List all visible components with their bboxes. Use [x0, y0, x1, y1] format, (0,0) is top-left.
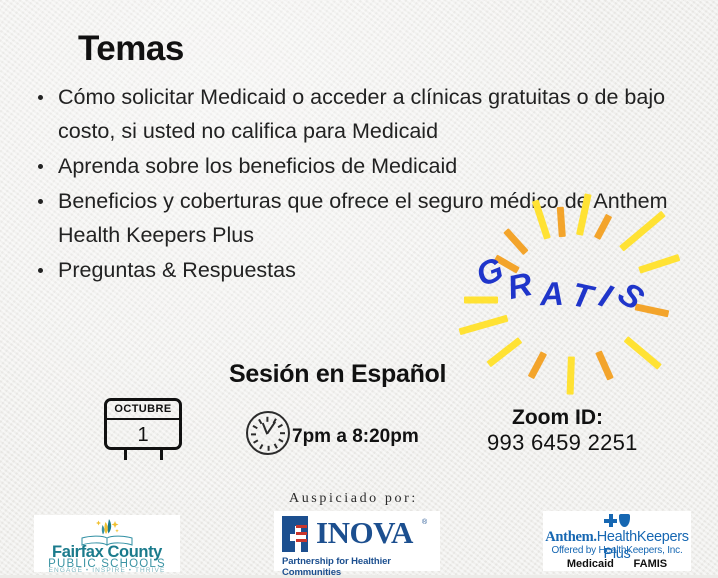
clock-tick: [251, 434, 256, 436]
gratis-letter: T: [568, 275, 596, 316]
gratis-badge: G R A T I S: [455, 215, 685, 370]
sponsor-label: Auspiciado por:: [289, 491, 418, 507]
session-time: 7pm a 8:20pm: [292, 426, 419, 448]
zoom-id-label: Zoom ID:: [512, 406, 603, 430]
inova-dash: [296, 539, 307, 542]
clock-tick: [278, 424, 283, 428]
list-item: Cómo solicitar Medicaid o acceder a clín…: [30, 80, 702, 148]
clock-tick: [268, 446, 270, 451]
clock-tick: [260, 444, 264, 449]
anthem-healthkeepers-logo: Anthem.HealthKeepers Plus Offered by Hea…: [543, 511, 691, 571]
calendar-leg-left: [124, 448, 127, 460]
anthem-programs: Medicaid FAMIS: [543, 558, 691, 570]
clock-tick: [278, 438, 283, 442]
inova-wordmark: INOVA: [316, 515, 413, 551]
clock-tick: [280, 432, 285, 434]
gratis-letter: A: [540, 275, 565, 313]
inova-registered-mark: ®: [422, 519, 427, 526]
calendar-day: 1: [107, 420, 179, 450]
calendar-month: OCTUBRE: [107, 401, 179, 420]
blue-shield-icon: [619, 514, 630, 527]
gratis-letter: R: [504, 265, 535, 307]
clock-tick: [252, 425, 257, 429]
anthem-program-medicaid: Medicaid: [567, 558, 614, 570]
anthem-program-famis: FAMIS: [634, 558, 668, 570]
anthem-brand: Anthem.: [545, 529, 596, 545]
clock-tick: [253, 440, 258, 444]
gratis-letter: I: [594, 277, 617, 316]
inova-dash: [296, 532, 307, 535]
calendar-body: OCTUBRE 1: [104, 398, 182, 450]
zoom-id-value: 993 6459 2251: [487, 430, 638, 456]
blue-cross-blue-shield-icons: [543, 514, 691, 528]
gratis-text: G R A T I S: [455, 215, 685, 370]
clock-icon: [246, 411, 290, 455]
calendar-leg-right: [160, 448, 163, 460]
inova-logo: INOVA ® Partnership for Healthier Commun…: [274, 511, 440, 571]
flyer-canvas: Temas Cómo solicitar Medicaid o acceder …: [0, 0, 718, 575]
list-item: Aprenda sobre los beneficios de Medicaid: [30, 149, 702, 183]
inova-dash: [296, 525, 307, 528]
clock-tick: [266, 417, 268, 422]
page-title: Temas: [78, 29, 184, 69]
clock-tick: [274, 443, 278, 448]
gratis-letter: G: [471, 250, 509, 295]
session-heading: Sesión en Español: [229, 360, 446, 389]
blue-cross-icon: [604, 514, 617, 527]
anthem-offered-by: Offered by HealthKeepers, Inc.: [543, 545, 691, 556]
fcps-tagline: ENGAGE • INSPIRE • THRIVE: [34, 567, 180, 574]
clock-hand-minute: [267, 421, 276, 434]
calendar-icon: OCTUBRE 1: [98, 398, 188, 460]
fairfax-county-public-schools-logo: Fairfax County PUBLIC SCHOOLS ENGAGE • I…: [34, 515, 180, 572]
